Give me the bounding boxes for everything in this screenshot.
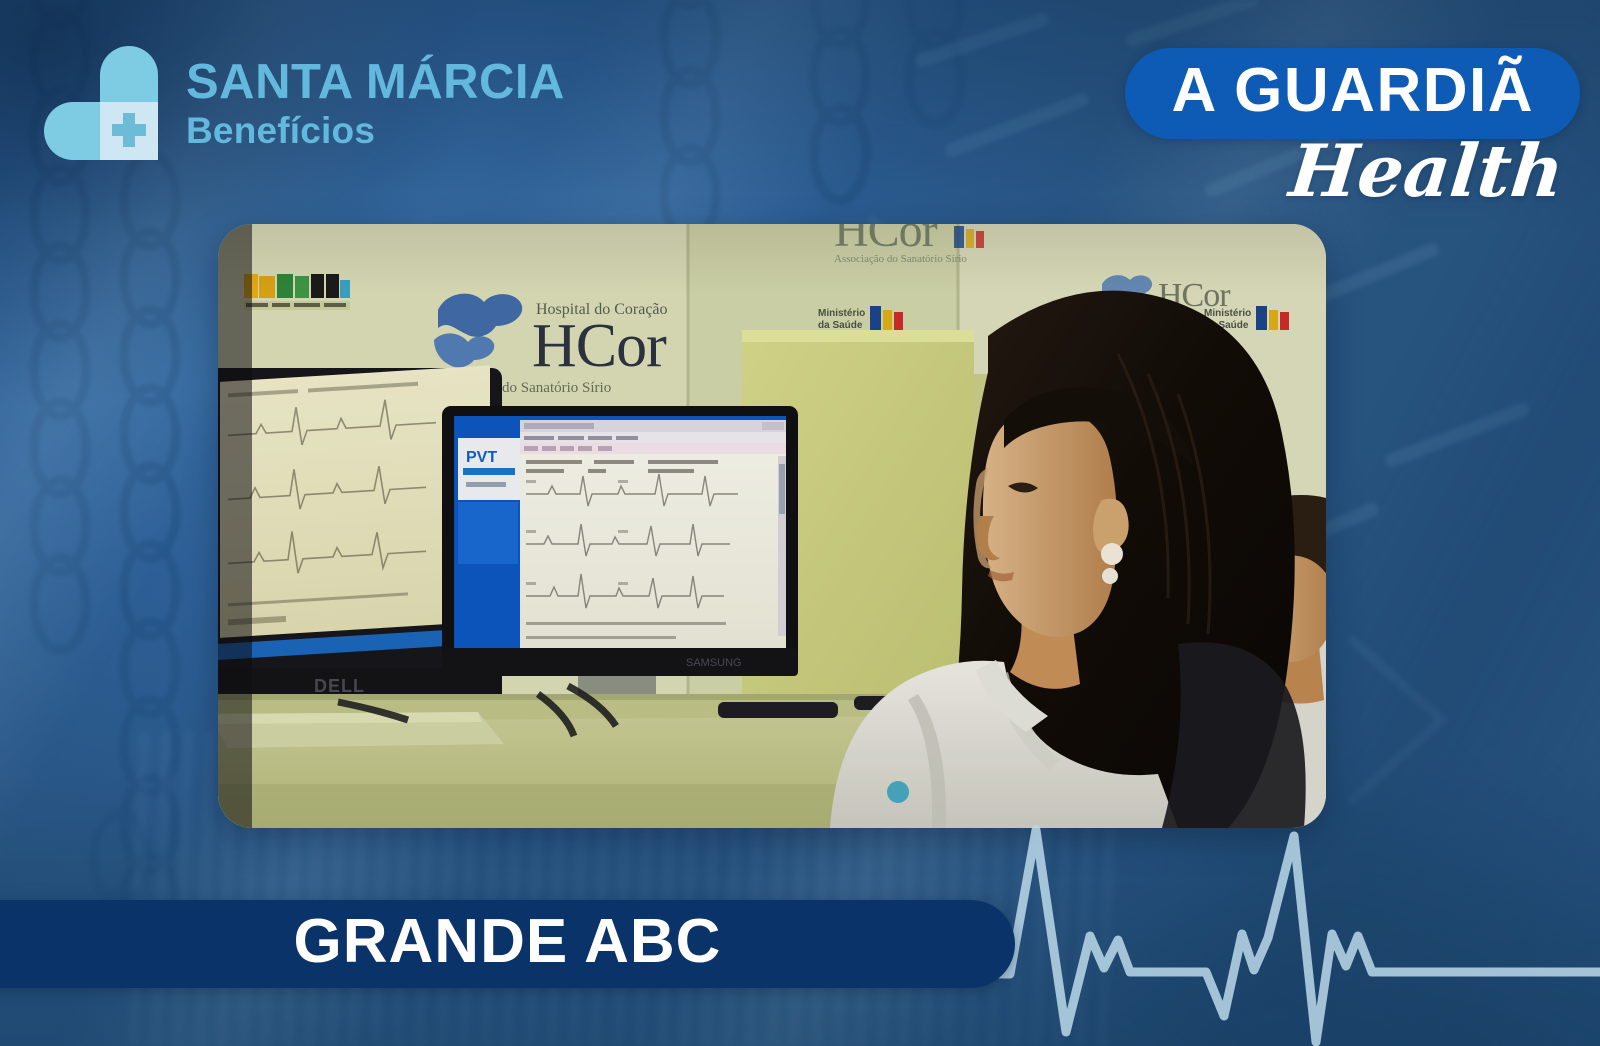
guardia-badge: A GUARDIÃ Health <box>1125 48 1580 207</box>
logo-line-2: Benefícios <box>186 112 565 149</box>
promo-card: SANTA MÁRCIA Benefícios A GUARDIÃ Health <box>0 0 1600 1046</box>
santa-marcia-logo: SANTA MÁRCIA Benefícios <box>36 42 565 164</box>
photo-healthcare-workstation: Hospital do Coração HCor Associação do S… <box>218 224 1326 828</box>
logo-line-1: SANTA MÁRCIA <box>186 58 565 107</box>
logo-wordmark: SANTA MÁRCIA Benefícios <box>186 58 565 149</box>
health-script-word: Health <box>1122 135 1568 207</box>
guardia-pill: A GUARDIÃ <box>1125 48 1580 139</box>
heart-cross-logo-icon <box>36 42 172 164</box>
guardia-title: A GUARDIÃ <box>1171 61 1534 122</box>
grande-abc-banner: GRANDE ABC <box>0 900 1015 988</box>
banner-label: GRANDE ABC <box>204 911 722 977</box>
